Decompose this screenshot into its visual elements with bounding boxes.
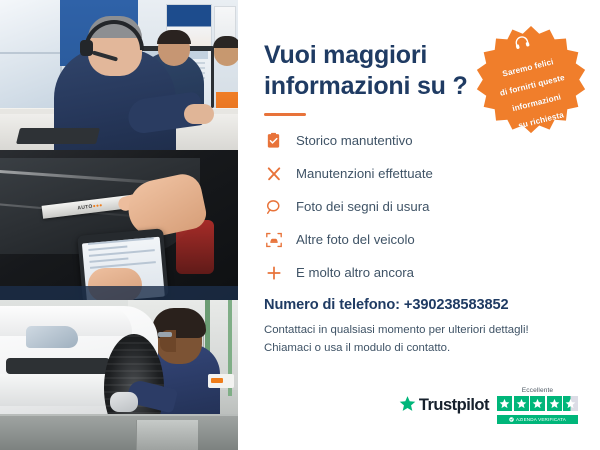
magnifier-icon (264, 197, 283, 216)
trustpilot-rating: Eccellente (497, 387, 578, 424)
call-center-agents-photo (0, 0, 238, 150)
phone-number[interactable]: +390238583852 (404, 297, 509, 313)
verified-badge-label: AZIENDA VERIFICATA (516, 417, 566, 422)
badge-text: Saremo felici di fornirti queste informa… (499, 57, 566, 130)
list-item: E molto altro ancora (264, 262, 574, 283)
trustpilot-star-icon (399, 395, 416, 417)
content-panel: Vuoi maggiori informazioni su ? Saremo f… (238, 0, 600, 450)
star-half-icon (563, 396, 578, 411)
title-divider (264, 113, 306, 116)
trustpilot-widget[interactable]: Trustpilot Eccellente (399, 387, 578, 424)
star-icon (547, 396, 562, 411)
promo-banner: AUTO●●● (0, 0, 600, 450)
list-item-label: Manutenzioni effettuate (296, 166, 433, 182)
plus-icon (264, 263, 283, 282)
tools-cross-icon (264, 164, 283, 183)
car-frame-icon (264, 230, 283, 249)
phone-label: Numero di telefono: (264, 297, 400, 313)
phone-heading: Numero di telefono: +390238583852 (264, 297, 574, 313)
trustpilot-logo: Trustpilot (399, 395, 489, 417)
clipboard-check-icon (264, 131, 283, 150)
page-title: Vuoi maggiori informazioni su ? (264, 40, 479, 101)
star-icon (497, 396, 512, 411)
list-item: Altre foto del veicolo (264, 229, 574, 250)
phone-description: Contattaci in qualsiasi momento per ulte… (264, 322, 574, 357)
trustpilot-rating-label: Eccellente (522, 387, 553, 394)
verified-badge: AZIENDA VERIFICATA (497, 415, 578, 424)
star-icon (514, 396, 529, 411)
list-item-label: Storico manutentivo (296, 133, 413, 149)
list-item: Manutenzioni effettuate (264, 163, 574, 184)
mechanic-wheel-service-photo (0, 300, 238, 450)
callout-badge: Saremo felici di fornirti queste informa… (476, 26, 586, 136)
trustpilot-stars (497, 396, 578, 411)
list-item: Foto dei segni di usura (264, 196, 574, 217)
photo-column: AUTO●●● (0, 0, 238, 450)
trustpilot-brand: Trustpilot (419, 396, 489, 415)
list-item-label: E molto altro ancora (296, 265, 414, 281)
list-item-label: Foto dei segni di usura (296, 199, 429, 215)
feature-list: Storico manutentivo Manutenzioni effettu… (264, 130, 574, 283)
list-item-label: Altre foto del veicolo (296, 232, 415, 248)
car-damage-inspection-photo: AUTO●●● (0, 150, 238, 300)
star-icon (530, 396, 545, 411)
check-circle-icon (509, 417, 514, 422)
phone-description-line2: Chiamaci o usa il modulo di contatto. (264, 340, 574, 358)
phone-description-line1: Contattaci in qualsiasi momento per ulte… (264, 322, 574, 340)
